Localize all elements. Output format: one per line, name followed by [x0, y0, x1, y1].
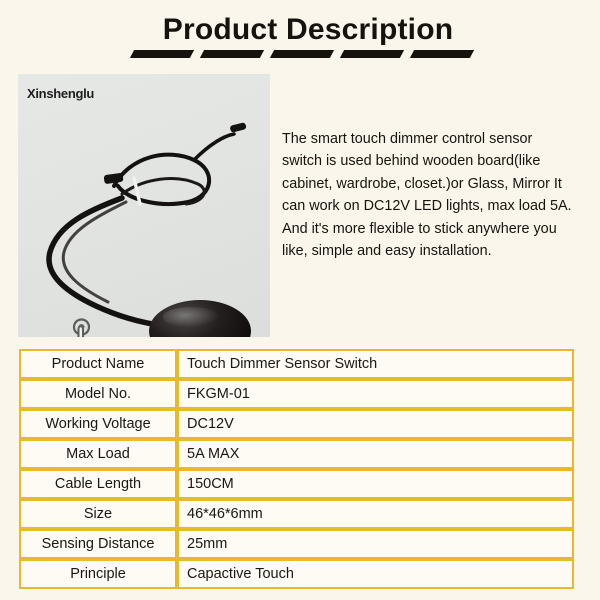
rule-dash [200, 50, 264, 58]
spec-value-cell: FKGM-01 [177, 379, 574, 409]
spec-label-cell: Max Load [19, 439, 177, 469]
rule-dash [270, 50, 334, 58]
spec-label-cell: Principle [19, 559, 177, 589]
page-header: Product Description [0, 0, 600, 72]
specification-table: Product NameTouch Dimmer Sensor SwitchMo… [19, 349, 574, 589]
table-row: Sensing Distance25mm [19, 529, 574, 559]
spec-value-cell: 5A MAX [177, 439, 574, 469]
spec-label-cell: Sensing Distance [19, 529, 177, 559]
table-row: Model No.FKGM-01 [19, 379, 574, 409]
product-cable-illustration [18, 74, 270, 337]
spec-label-cell: Cable Length [19, 469, 177, 499]
spec-value-cell: DC12V [177, 409, 574, 439]
spec-label-cell: Size [19, 499, 177, 529]
touch-hand-icon [64, 317, 110, 337]
spec-value-cell: 46*46*6mm [177, 499, 574, 529]
rule-dash [410, 50, 474, 58]
spec-label-cell: Working Voltage [19, 409, 177, 439]
spec-value-cell: 25mm [177, 529, 574, 559]
product-description-paragraph: The smart touch dimmer control sensor sw… [282, 128, 574, 262]
table-row: Working VoltageDC12V [19, 409, 574, 439]
rule-dash [340, 50, 404, 58]
spec-label-cell: Model No. [19, 379, 177, 409]
page-title: Product Description [0, 13, 600, 47]
spec-value-cell: 150CM [177, 469, 574, 499]
rule-dash [130, 50, 194, 58]
table-row: Product NameTouch Dimmer Sensor Switch [19, 349, 574, 379]
table-row: PrincipleCapactive Touch [19, 559, 574, 589]
table-row: Cable Length150CM [19, 469, 574, 499]
product-photo: Xinshenglu [18, 74, 270, 337]
sensor-puck [149, 300, 253, 337]
table-row: Max Load5A MAX [19, 439, 574, 469]
spec-value-cell: Touch Dimmer Sensor Switch [177, 349, 574, 379]
spec-value-cell: Capactive Touch [177, 559, 574, 589]
title-underline-dashes [130, 50, 470, 63]
puck-top-surface [149, 300, 251, 337]
puck-highlight [163, 307, 219, 327]
table-row: Size46*46*6mm [19, 499, 574, 529]
spec-label-cell: Product Name [19, 349, 177, 379]
